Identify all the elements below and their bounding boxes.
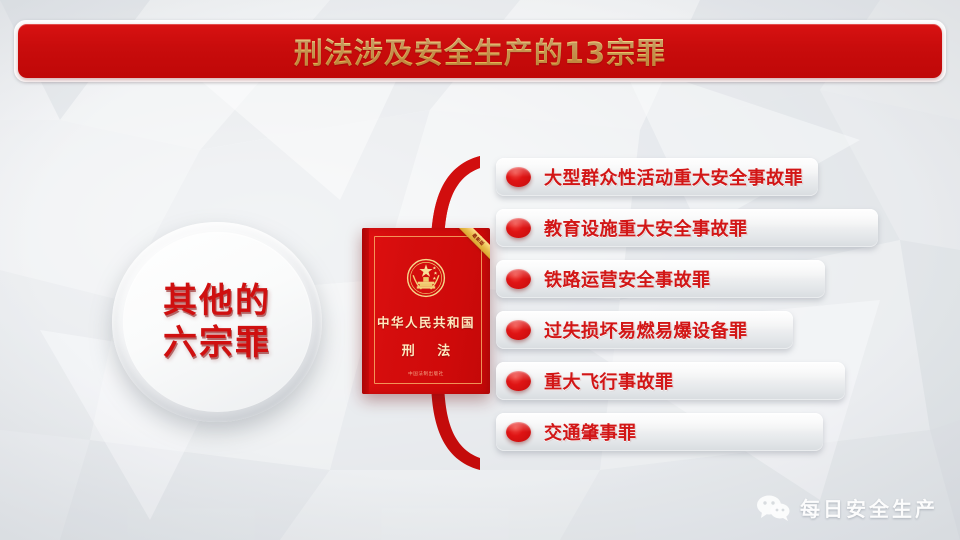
slide-canvas: 刑法涉及安全生产的13宗罪 其他的 六宗罪	[0, 0, 960, 540]
wechat-icon	[756, 494, 790, 522]
crime-label: 教育设施重大安全事故罪	[544, 215, 748, 241]
page-title: 刑法涉及安全生产的13宗罪	[294, 30, 666, 72]
crime-label: 大型群众性活动重大安全事故罪	[544, 164, 803, 190]
crime-label: 交通肇事罪	[544, 419, 637, 445]
badge-line-1: 其他的	[163, 281, 271, 321]
other-six-crimes-badge: 其他的 六宗罪	[112, 222, 322, 422]
bullet-dot-icon	[506, 320, 531, 340]
watermark-account-name: 每日安全生产	[800, 493, 938, 522]
crime-label: 重大飞行事故罪	[544, 368, 674, 394]
bullet-dot-icon	[506, 422, 531, 442]
list-item[interactable]: 教育设施重大安全事故罪	[496, 209, 878, 247]
bullet-dot-icon	[506, 218, 531, 238]
bullet-dot-icon	[506, 371, 531, 391]
book-title-line-1: 中华人民共和国	[362, 312, 490, 331]
crime-label: 铁路运营安全事故罪	[544, 266, 711, 292]
list-item[interactable]: 交通肇事罪	[496, 413, 823, 451]
book-publisher: 中国法制出版社	[362, 371, 490, 377]
list-item[interactable]: 过失损坏易燃易爆设备罪	[496, 311, 793, 349]
book-spine	[362, 228, 369, 394]
book-title-block: 中华人民共和国 刑 法	[362, 312, 490, 359]
wechat-watermark: 每日安全生产	[756, 493, 938, 522]
bullet-dot-icon	[506, 167, 531, 187]
badge-inner-face: 其他的 六宗罪	[123, 232, 312, 412]
title-banner-inner: 刑法涉及安全生产的13宗罪	[18, 24, 942, 78]
bullet-dot-icon	[506, 269, 531, 289]
national-emblem-icon	[403, 255, 449, 301]
crime-list: 大型群众性活动重大安全事故罪 教育设施重大安全事故罪 铁路运营安全事故罪 过失损…	[496, 158, 916, 464]
list-item[interactable]: 重大飞行事故罪	[496, 362, 845, 400]
list-item[interactable]: 铁路运营安全事故罪	[496, 260, 825, 298]
title-banner: 刑法涉及安全生产的13宗罪	[14, 20, 946, 82]
book-title-line-2: 刑 法	[362, 340, 490, 359]
list-item[interactable]: 大型群众性活动重大安全事故罪	[496, 158, 818, 196]
crime-label: 过失损坏易燃易爆设备罪	[544, 317, 748, 343]
criminal-law-book: 中华人民共和国 刑 法 中国法制出版社 最新版	[362, 228, 490, 394]
badge-line-2: 六宗罪	[163, 323, 271, 363]
